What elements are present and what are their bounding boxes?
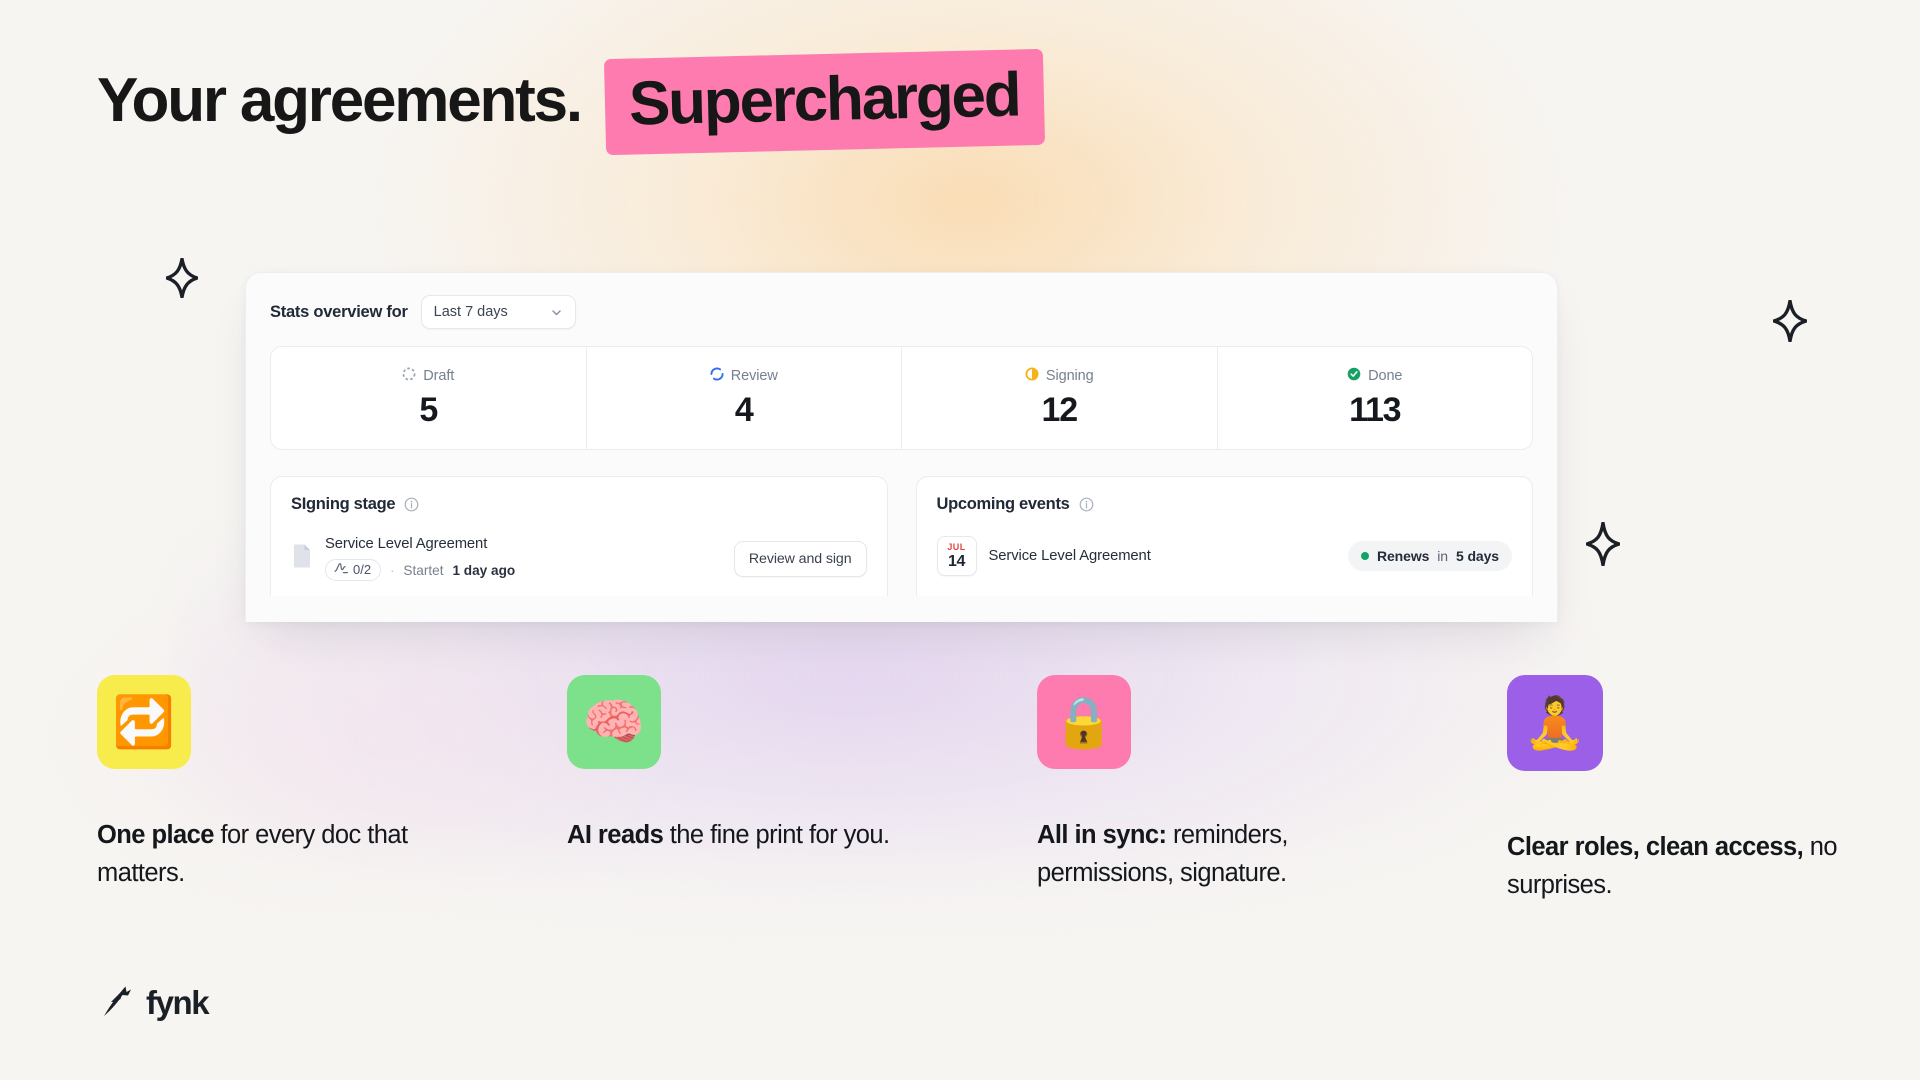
feature-item: 🧘 Clear roles, clean access, no surprise… bbox=[1507, 675, 1837, 904]
signing-row-main: Service Level Agreement 0/2 · Startet 1 … bbox=[325, 536, 722, 581]
signing-meta-prefix: Startet bbox=[403, 563, 443, 578]
headline-text: Your agreements. bbox=[97, 68, 581, 135]
upcoming-events-panel: Upcoming events JUL 14 Service Level Agr… bbox=[916, 476, 1534, 596]
upcoming-event-row: JUL 14 Service Level Agreement Renews in… bbox=[937, 536, 1513, 576]
stat-card-done[interactable]: Done 113 bbox=[1218, 347, 1533, 449]
feature-item: 🧠 AI reads the fine print for you. bbox=[567, 675, 1037, 904]
feature-caption-bold: AI reads bbox=[567, 821, 663, 849]
feature-caption: One place for every doc that matters. bbox=[97, 817, 437, 892]
dashboard-panels: SIgning stage Service Level Agreement bbox=[270, 476, 1533, 596]
date-range-value: Last 7 days bbox=[434, 304, 508, 320]
sparkle-icon bbox=[166, 258, 198, 298]
stat-label-draft: Draft bbox=[271, 367, 586, 385]
fynk-wordmark: fynk bbox=[146, 984, 208, 1022]
signing-row-meta: 0/2 · Startet 1 day ago bbox=[325, 559, 722, 581]
signing-stage-header: SIgning stage bbox=[291, 495, 867, 514]
review-and-sign-button[interactable]: Review and sign bbox=[734, 541, 867, 577]
sparkle-icon bbox=[1586, 522, 1620, 566]
signers-count: 0/2 bbox=[353, 562, 371, 577]
calendar-month: JUL bbox=[947, 543, 965, 552]
event-title: Service Level Agreement bbox=[989, 548, 1336, 564]
feature-caption-bold: All in sync: bbox=[1037, 821, 1166, 849]
feature-list: 🔁 One place for every doc that matters. … bbox=[97, 675, 1837, 904]
signing-doc-title: Service Level Agreement bbox=[325, 536, 722, 552]
feature-caption: AI reads the fine print for you. bbox=[567, 817, 907, 855]
stats-overview-title: Stats overview for bbox=[270, 303, 408, 322]
feature-item: 🔒 All in sync: reminders, permissions, s… bbox=[1037, 675, 1507, 904]
stat-label-signing: Signing bbox=[902, 367, 1217, 385]
stats-strip: Draft 5 Review 4 Signing 12 bbox=[270, 346, 1533, 450]
renews-status-badge: Renews in 5 days bbox=[1348, 541, 1512, 571]
repeat-emoji-icon: 🔁 bbox=[97, 675, 191, 769]
stat-card-draft[interactable]: Draft 5 bbox=[271, 347, 587, 449]
fynk-bird-logo-icon bbox=[98, 980, 138, 1025]
stat-label-review: Review bbox=[587, 367, 902, 385]
upcoming-events-title: Upcoming events bbox=[937, 495, 1070, 514]
stat-label-text: Draft bbox=[423, 368, 454, 384]
signature-icon bbox=[334, 562, 348, 577]
signing-meta-value: 1 day ago bbox=[452, 563, 515, 578]
sparkle-icon bbox=[1773, 300, 1807, 342]
info-icon[interactable] bbox=[1079, 497, 1094, 512]
info-icon[interactable] bbox=[404, 497, 419, 512]
stat-value-done: 113 bbox=[1218, 393, 1533, 427]
check-circle-icon bbox=[1347, 367, 1361, 385]
meditation-emoji-icon: 🧘 bbox=[1507, 675, 1603, 771]
feature-caption-bold: One place bbox=[97, 821, 214, 849]
feature-caption-bold: Clear roles, clean access, bbox=[1507, 833, 1803, 861]
stat-label-done: Done bbox=[1218, 367, 1533, 385]
dashed-circle-icon bbox=[402, 367, 416, 385]
stat-card-review[interactable]: Review 4 bbox=[587, 347, 903, 449]
feature-caption-rest: the fine print for you. bbox=[663, 821, 889, 849]
renews-mid: in bbox=[1437, 548, 1448, 564]
stat-value-signing: 12 bbox=[902, 393, 1217, 427]
signing-stage-row: Service Level Agreement 0/2 · Startet 1 … bbox=[291, 536, 867, 581]
lock-emoji-icon: 🔒 bbox=[1037, 675, 1131, 769]
renews-days: 5 days bbox=[1456, 548, 1499, 564]
page-headline: Your agreements. Supercharged bbox=[97, 68, 1043, 150]
stat-card-signing[interactable]: Signing 12 bbox=[902, 347, 1218, 449]
stat-value-review: 4 bbox=[587, 393, 902, 427]
stats-dashboard-card: Stats overview for Last 7 days Draft 5 bbox=[245, 272, 1558, 622]
document-icon bbox=[291, 543, 313, 574]
stat-label-text: Review bbox=[731, 368, 778, 384]
stat-value-draft: 5 bbox=[271, 393, 586, 427]
headline-highlight: Supercharged bbox=[604, 49, 1045, 155]
stat-label-text: Done bbox=[1368, 368, 1402, 384]
feature-item: 🔁 One place for every doc that matters. bbox=[97, 675, 567, 904]
upcoming-events-header: Upcoming events bbox=[937, 495, 1513, 514]
signing-stage-panel: SIgning stage Service Level Agreement bbox=[270, 476, 888, 596]
calendar-day: 14 bbox=[948, 554, 965, 570]
fynk-logo: fynk bbox=[98, 980, 208, 1025]
signers-chip: 0/2 bbox=[325, 559, 381, 581]
feature-caption: Clear roles, clean access, no surprises. bbox=[1507, 829, 1837, 904]
status-dot-icon bbox=[1361, 552, 1369, 560]
calendar-date-icon: JUL 14 bbox=[937, 536, 977, 576]
date-range-select[interactable]: Last 7 days bbox=[421, 295, 576, 329]
spinner-circle-icon bbox=[710, 367, 724, 385]
feature-caption: All in sync: reminders, permissions, sig… bbox=[1037, 817, 1397, 892]
half-filled-circle-icon bbox=[1025, 367, 1039, 385]
renews-label: Renews bbox=[1377, 548, 1429, 564]
signing-stage-title: SIgning stage bbox=[291, 495, 395, 514]
chevron-down-icon bbox=[550, 306, 563, 319]
stats-header: Stats overview for Last 7 days bbox=[246, 273, 1557, 346]
stat-label-text: Signing bbox=[1046, 368, 1094, 384]
brain-emoji-icon: 🧠 bbox=[567, 675, 661, 769]
meta-separator: · bbox=[390, 563, 394, 578]
